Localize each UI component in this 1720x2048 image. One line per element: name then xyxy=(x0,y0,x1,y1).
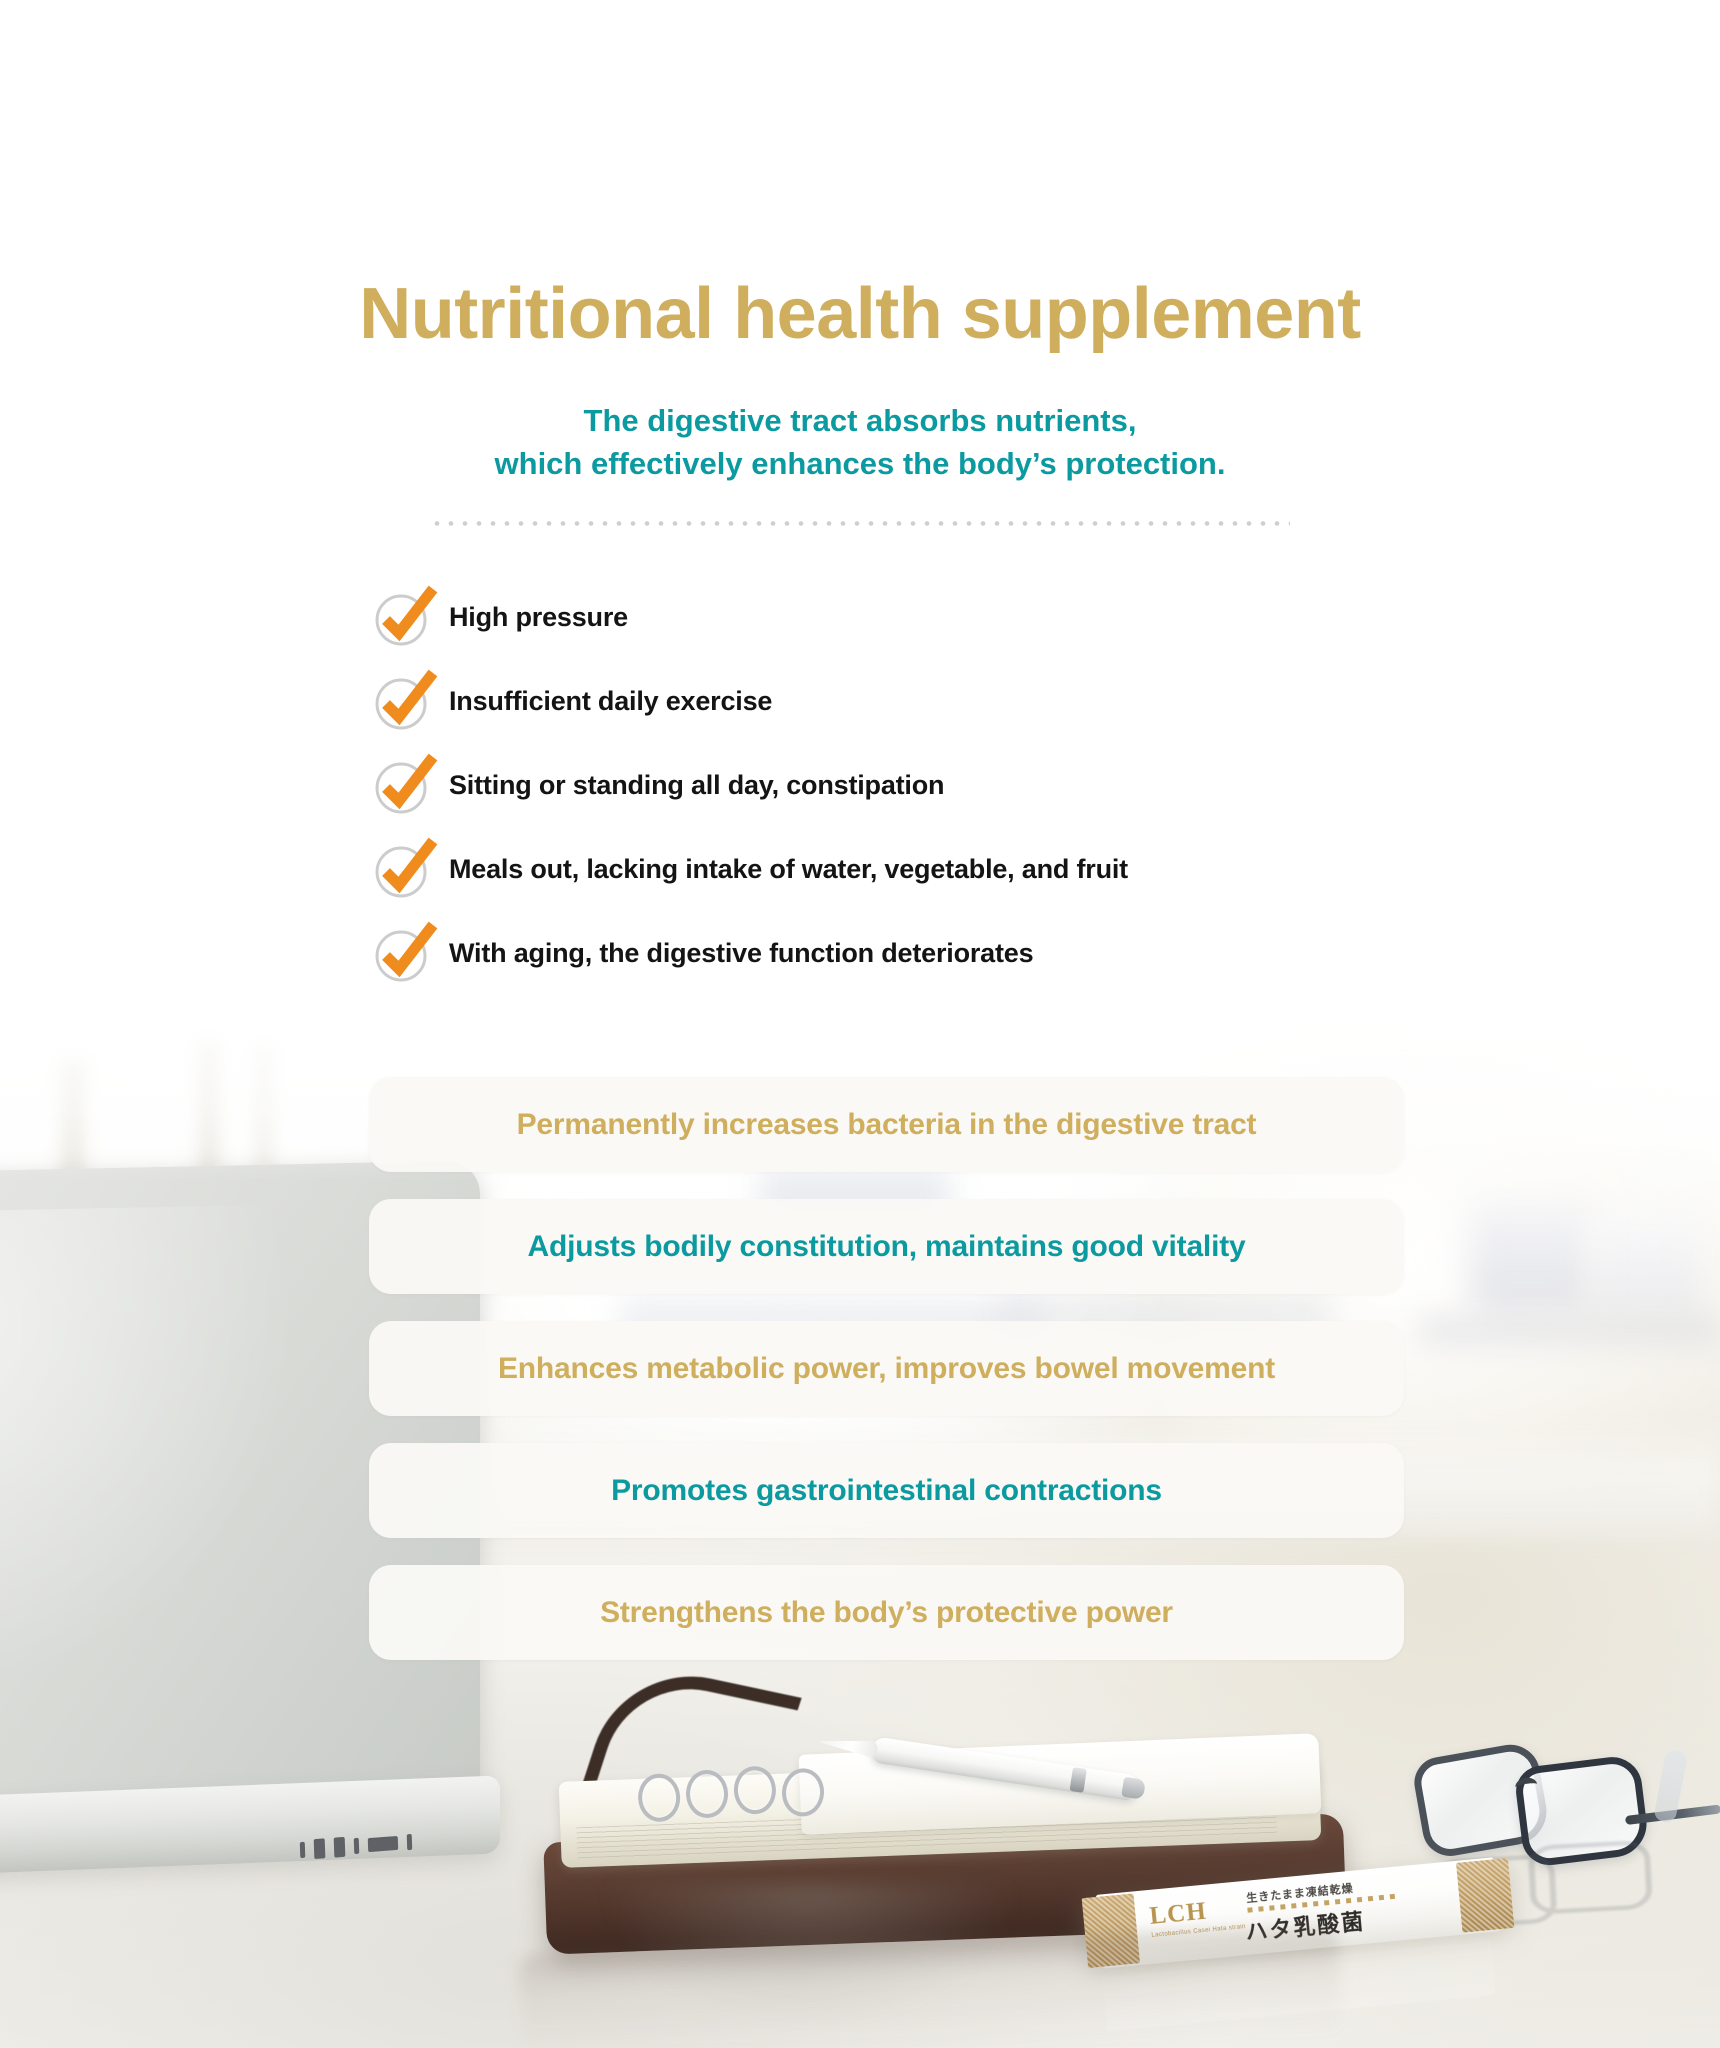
benefit-card: Permanently increases bacteria in the di… xyxy=(369,1077,1404,1172)
orange-checkmark-icon xyxy=(373,670,435,732)
orange-checkmark-icon xyxy=(373,754,435,816)
benefit-card-text: Adjusts bodily constitution, maintains g… xyxy=(528,1232,1246,1262)
benefit-card-list: Permanently increases bacteria in the di… xyxy=(369,1077,1404,1687)
benefit-card-text: Promotes gastrointestinal contractions xyxy=(611,1476,1162,1506)
list-item-label: Insufficient daily exercise xyxy=(449,688,772,715)
list-item-label: Sitting or standing all day, constipatio… xyxy=(449,772,944,799)
benefit-card: Enhances metabolic power, improves bowel… xyxy=(369,1321,1404,1416)
page-subtitle: The digestive tract absorbs nutrients, w… xyxy=(0,400,1720,486)
list-item-label: High pressure xyxy=(449,604,628,631)
orange-checkmark-icon xyxy=(373,586,435,648)
benefit-card: Strengthens the body’s protective power xyxy=(369,1565,1404,1660)
list-item: Meals out, lacking intake of water, vege… xyxy=(373,827,1553,911)
subtitle-line-1: The digestive tract absorbs nutrients, xyxy=(0,400,1720,443)
subtitle-line-2: which effectively enhances the body’s pr… xyxy=(0,443,1720,486)
page-content: Nutritional health supplement The digest… xyxy=(0,0,1720,2048)
benefit-card-text: Permanently increases bacteria in the di… xyxy=(517,1110,1257,1140)
benefit-card-text: Enhances metabolic power, improves bowel… xyxy=(498,1354,1275,1384)
list-item: Insufficient daily exercise xyxy=(373,659,1553,743)
benefit-card-text: Strengthens the body’s protective power xyxy=(600,1598,1173,1628)
list-item: Sitting or standing all day, constipatio… xyxy=(373,743,1553,827)
list-item: With aging, the digestive function deter… xyxy=(373,911,1553,995)
dotted-divider xyxy=(430,520,1290,527)
risk-factor-checklist: High pressure Insufficient daily exercis… xyxy=(373,575,1553,995)
benefit-card: Adjusts bodily constitution, maintains g… xyxy=(369,1199,1404,1294)
list-item: High pressure xyxy=(373,575,1553,659)
page-title: Nutritional health supplement xyxy=(0,273,1720,355)
benefit-card: Promotes gastrointestinal contractions xyxy=(369,1443,1404,1538)
supplement-infographic-page: LCH Lactobacillus Casei Hata strain 生きたま… xyxy=(0,0,1720,2048)
list-item-label: With aging, the digestive function deter… xyxy=(449,940,1033,967)
orange-checkmark-icon xyxy=(373,922,435,984)
list-item-label: Meals out, lacking intake of water, vege… xyxy=(449,856,1128,883)
orange-checkmark-icon xyxy=(373,838,435,900)
